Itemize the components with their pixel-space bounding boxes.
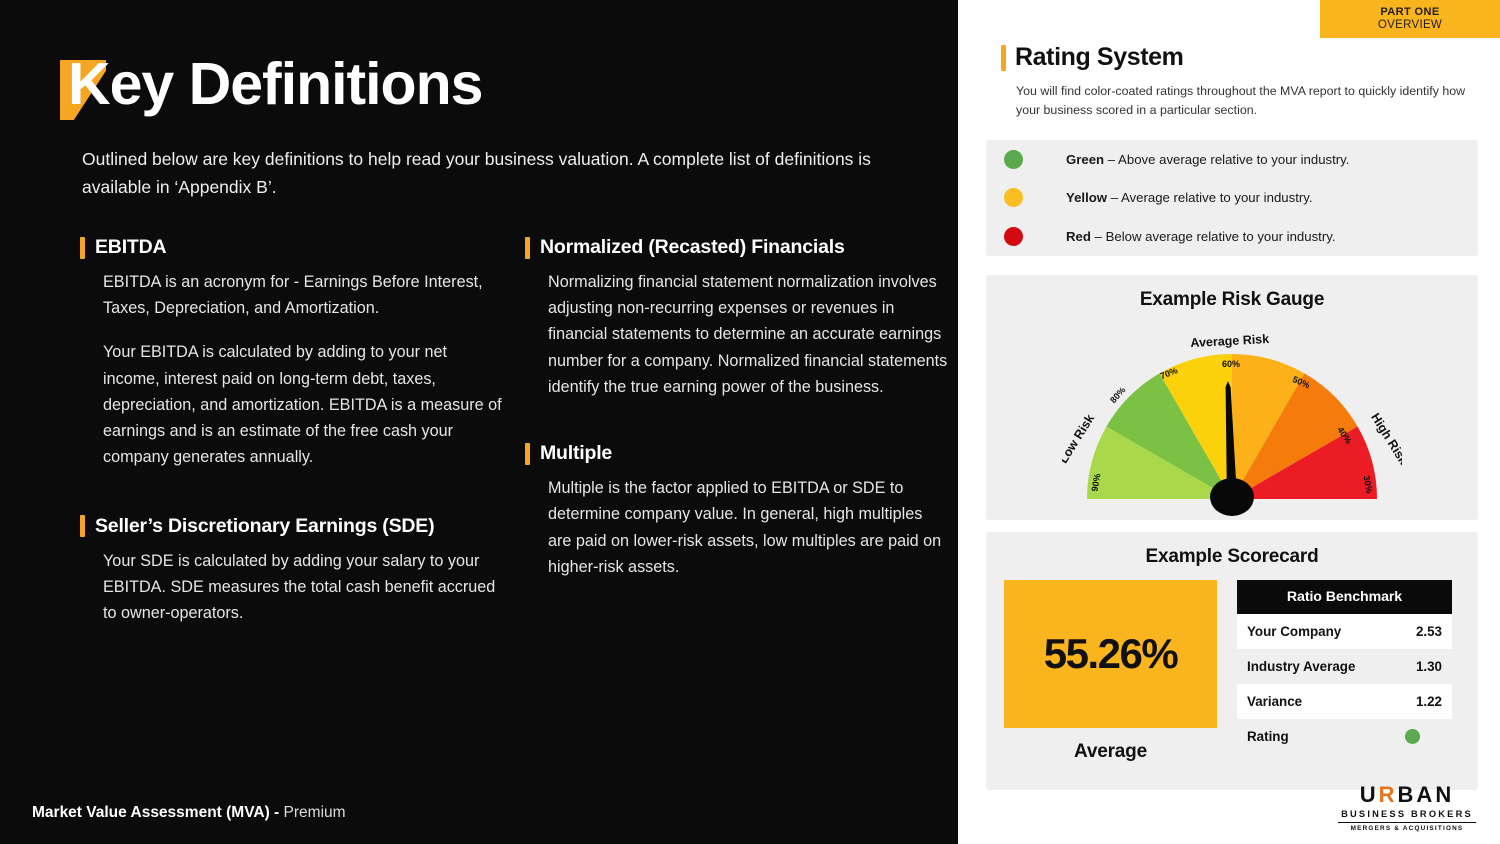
accent-bar-icon bbox=[525, 237, 530, 259]
risk-gauge-title: Example Risk Gauge bbox=[986, 275, 1478, 311]
table-cell-value: 1.22 bbox=[1416, 694, 1442, 709]
table-cell-value: 1.30 bbox=[1416, 659, 1442, 674]
footer-bold-text: Market Value Assessment (MVA) - bbox=[32, 804, 279, 821]
table-cell-label: Variance bbox=[1247, 694, 1302, 709]
scorecard-table: Ratio Benchmark Your Company 2.53 Indust… bbox=[1237, 580, 1452, 763]
gauge-hub bbox=[1210, 478, 1254, 516]
risk-gauge-chart: 90% 80% 70% 60% 50% 40% 30% Low Risk Ave… bbox=[1062, 317, 1402, 517]
scorecard-percent-label: Average bbox=[1004, 741, 1217, 763]
definition-title: Seller’s Discretionary Earnings (SDE) bbox=[95, 515, 434, 538]
table-header: Ratio Benchmark bbox=[1237, 580, 1452, 614]
scorecard-title: Example Scorecard bbox=[986, 532, 1478, 568]
definition-paragraph: Your SDE is calculated by adding your sa… bbox=[103, 548, 505, 627]
risk-gauge-holder: 90% 80% 70% 60% 50% 40% 30% Low Risk Ave… bbox=[986, 311, 1478, 511]
accent-bar-icon bbox=[1001, 45, 1006, 71]
definition-ebitda: EBITDA EBITDA is an acronym for - Earnin… bbox=[80, 236, 505, 471]
right-panel: PART ONE OVERVIEW Rating System You will… bbox=[958, 0, 1500, 844]
table-row: Your Company 2.53 bbox=[1237, 614, 1452, 649]
definition-paragraph: EBITDA is an acronym for - Earnings Befo… bbox=[103, 269, 505, 321]
page-title-wrap: Key Definitions bbox=[60, 55, 482, 114]
table-row: Variance 1.22 bbox=[1237, 684, 1452, 719]
scorecard-body: 55.26% Average Ratio Benchmark Your Comp… bbox=[986, 568, 1478, 763]
gauge-zone-low-risk: Low Risk bbox=[1062, 412, 1097, 466]
accent-bar-icon bbox=[80, 515, 85, 537]
table-row: Rating bbox=[1237, 719, 1452, 754]
slide-root: Key Definitions Outlined below are key d… bbox=[0, 0, 1500, 844]
definition-paragraph: Your EBITDA is calculated by adding to y… bbox=[103, 339, 505, 470]
brand-logo-wordmark: URBAN bbox=[1338, 784, 1476, 806]
intro-paragraph: Outlined below are key definitions to he… bbox=[82, 145, 892, 202]
definitions-column-right: Normalized (Recasted) Financials Normali… bbox=[525, 236, 950, 580]
legend-item-yellow: Yellow – Average relative to your indust… bbox=[986, 179, 1478, 218]
part-badge-line1: PART ONE bbox=[1380, 7, 1439, 19]
gauge-tick-60: 60% bbox=[1222, 359, 1240, 369]
definition-title: Normalized (Recasted) Financials bbox=[540, 236, 845, 259]
gauge-zone-average-risk: Average Risk bbox=[1190, 332, 1269, 350]
table-row: Industry Average 1.30 bbox=[1237, 649, 1452, 684]
definition-sde: Seller’s Discretionary Earnings (SDE) Yo… bbox=[80, 515, 505, 627]
status-dot-red-icon bbox=[1004, 227, 1023, 246]
definition-multiple: Multiple Multiple is the factor applied … bbox=[525, 442, 950, 580]
rating-system-title: Rating System bbox=[1015, 43, 1183, 72]
left-dark-panel: Key Definitions Outlined below are key d… bbox=[0, 0, 958, 844]
footer-caption: Market Value Assessment (MVA) - Premium bbox=[32, 804, 346, 822]
legend-item-red: Red – Below average relative to your ind… bbox=[986, 217, 1478, 256]
part-badge: PART ONE OVERVIEW bbox=[1320, 0, 1500, 38]
gauge-zone-high-risk: High Risk bbox=[1368, 411, 1402, 467]
part-badge-line2: OVERVIEW bbox=[1378, 19, 1442, 31]
brand-logo-subtitle: BUSINESS BROKERS bbox=[1338, 809, 1476, 819]
status-dot-green-icon bbox=[1405, 729, 1420, 744]
definition-paragraph: Multiple is the factor applied to EBITDA… bbox=[548, 475, 950, 580]
brand-logo-r-glyph: R bbox=[1379, 782, 1398, 807]
definition-normalized: Normalized (Recasted) Financials Normali… bbox=[525, 236, 950, 400]
risk-gauge-card: Example Risk Gauge bbox=[986, 275, 1478, 520]
table-cell-label: Your Company bbox=[1247, 624, 1341, 639]
accent-bar-icon bbox=[525, 443, 530, 465]
legend-item-green: Green – Above average relative to your i… bbox=[986, 140, 1478, 179]
rating-legend-card: Green – Above average relative to your i… bbox=[986, 140, 1478, 256]
scorecard-percent-block: 55.26% Average bbox=[1004, 580, 1217, 763]
legend-item-label: Green – Above average relative to your i… bbox=[1066, 152, 1349, 167]
definition-paragraph: Normalizing financial statement normaliz… bbox=[548, 269, 950, 400]
rating-system-subtitle: You will find color-coated ratings throu… bbox=[1016, 82, 1486, 120]
scorecard-percent-value: 55.26% bbox=[1044, 630, 1177, 678]
brand-logo-tagline: MERGERS & ACQUISITIONS bbox=[1338, 825, 1476, 832]
definition-title: EBITDA bbox=[95, 236, 166, 259]
rating-system-heading: Rating System bbox=[1001, 43, 1183, 72]
definition-heading: Multiple bbox=[525, 442, 950, 465]
status-dot-yellow-icon bbox=[1004, 188, 1023, 207]
page-title: Key Definitions bbox=[60, 55, 482, 114]
definition-heading: EBITDA bbox=[80, 236, 505, 259]
scorecard-percent-box: 55.26% bbox=[1004, 580, 1217, 728]
definition-title: Multiple bbox=[540, 442, 612, 465]
legend-item-label: Yellow – Average relative to your indust… bbox=[1066, 190, 1313, 205]
definition-heading: Seller’s Discretionary Earnings (SDE) bbox=[80, 515, 505, 538]
definitions-column-left: EBITDA EBITDA is an acronym for - Earnin… bbox=[80, 236, 505, 626]
scorecard-card: Example Scorecard 55.26% Average Ratio B… bbox=[986, 532, 1478, 790]
brand-logo-divider bbox=[1338, 822, 1476, 823]
accent-bar-icon bbox=[80, 237, 85, 259]
status-dot-green-icon bbox=[1004, 150, 1023, 169]
footer-light-text: Premium bbox=[279, 804, 345, 821]
table-cell-label: Industry Average bbox=[1247, 659, 1355, 674]
definition-heading: Normalized (Recasted) Financials bbox=[525, 236, 950, 259]
legend-item-label: Red – Below average relative to your ind… bbox=[1066, 229, 1336, 244]
brand-logo: URBAN BUSINESS BROKERS MERGERS & ACQUISI… bbox=[1338, 784, 1476, 832]
table-cell-value: 2.53 bbox=[1416, 624, 1442, 639]
table-cell-label: Rating bbox=[1247, 729, 1289, 744]
